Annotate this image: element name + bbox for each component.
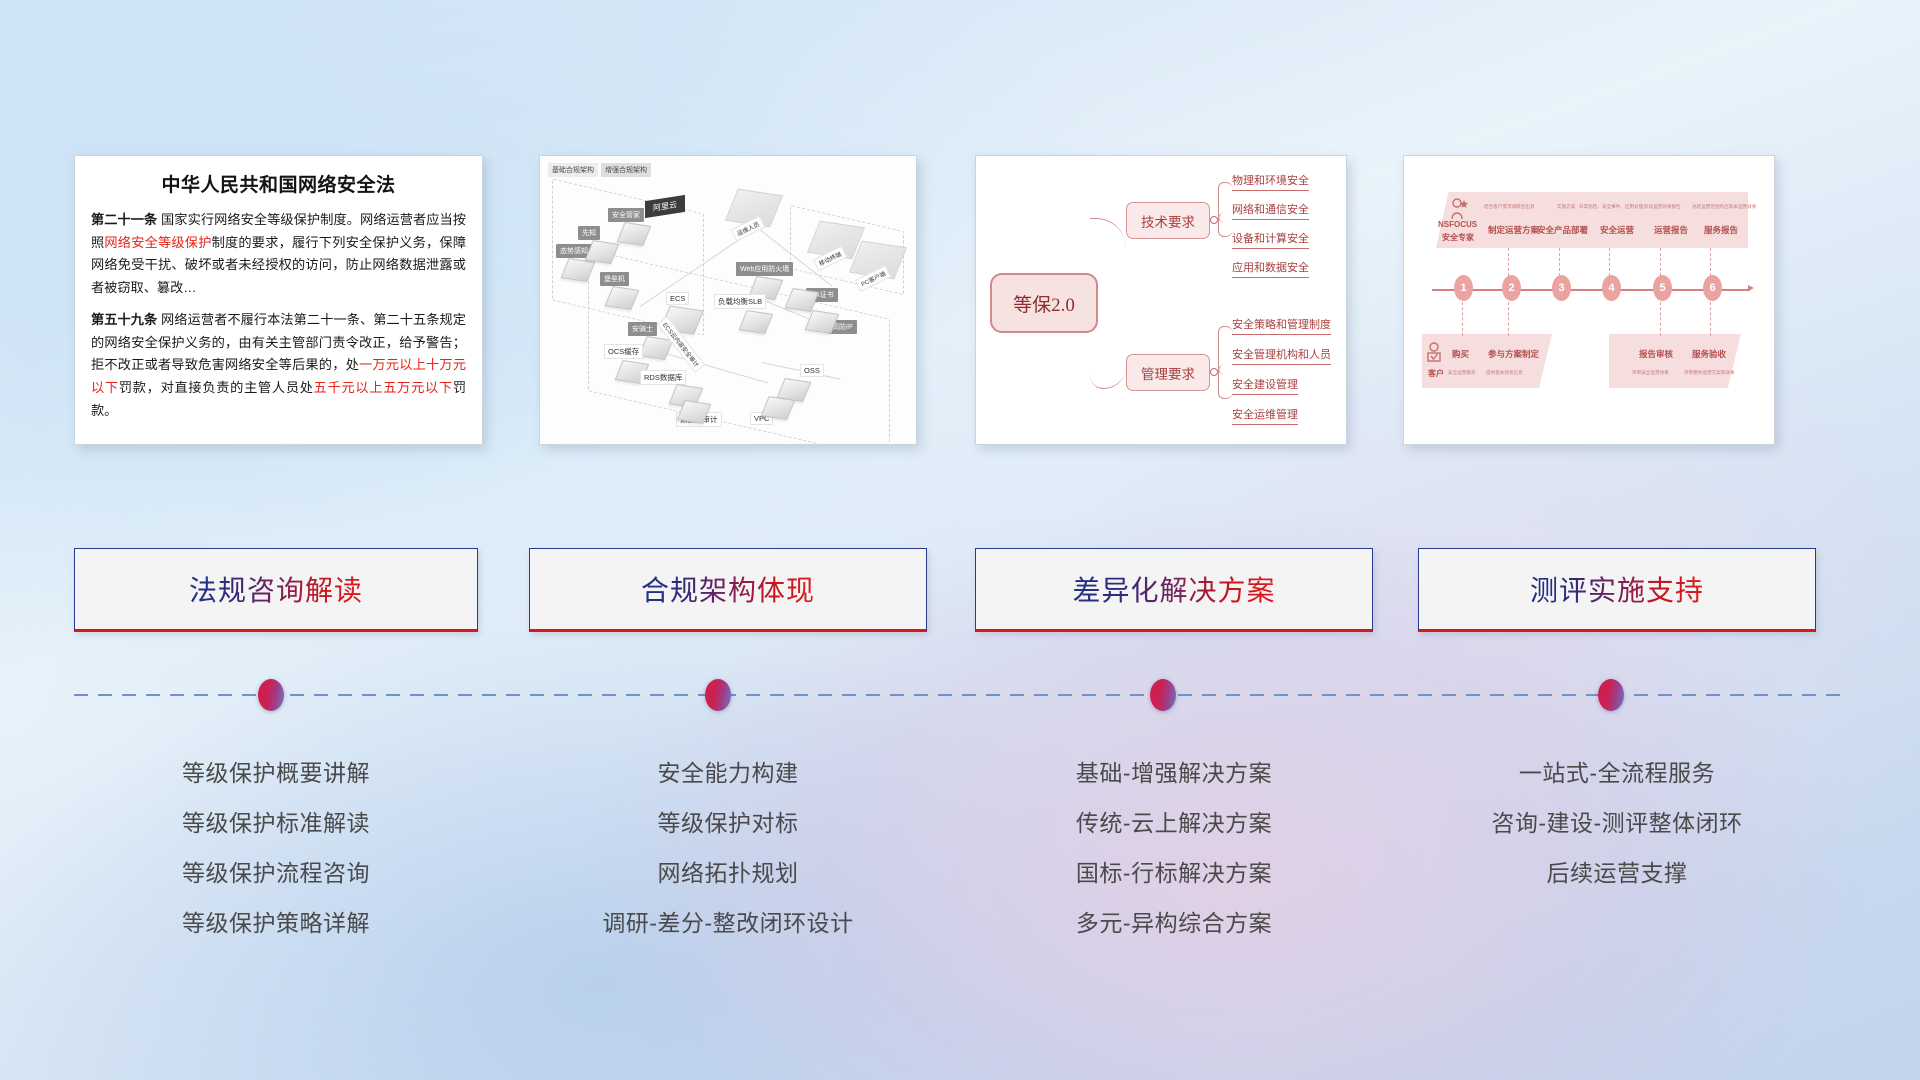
step-connector [1462, 302, 1463, 336]
timeline-arrow-icon [1748, 285, 1754, 291]
step-connector [1710, 248, 1711, 276]
mindmap-leaf: 网络和通信安全 [1232, 201, 1309, 220]
node-label: 安全管家 [608, 208, 644, 222]
step-sub: 日常巡检、安全事件、应用处理 [1579, 204, 1643, 210]
timeline-dot-1 [258, 679, 284, 711]
list-item: 国标-行标解决方案 [975, 848, 1373, 898]
architecture-diagram: 基础合规架构 增强合规架构 阿里云 态势感知 先知 [540, 156, 916, 444]
law-title: 中华人民共和国网络安全法 [91, 170, 466, 197]
heading-box-4[interactable]: 测评实施支持 [1418, 548, 1816, 632]
node-label: Web应用防火墙 [736, 262, 793, 276]
server-cube-icon [605, 286, 639, 310]
law-paragraph-59: 第五十九条 网络运营者不履行本法第二十一条、第二十五条规定的网络安全保护义务的，… [91, 309, 466, 423]
mindmap-connector [1090, 218, 1126, 279]
step-label: 运营报告 [1654, 224, 1688, 236]
card-cybersecurity-law: 中华人民共和国网络安全法 第二十一条 国家实行网络安全等级保护制度。网络运营者应… [74, 155, 483, 445]
step-connector [1660, 248, 1661, 276]
customer-step-label: 报告审核 [1639, 348, 1673, 360]
step-number: 1 [1460, 282, 1466, 294]
nsfocus-timeline-diagram: NSFOCUS 安全专家 结合客户需求调研后出具 制定运营方案 实施方案 安全产… [1404, 156, 1774, 444]
timeline-dot-3 [1150, 679, 1176, 711]
node-label: RDS数据库 [640, 370, 686, 385]
timeline-dot-2 [705, 679, 731, 711]
node-ops-personnel: 运维人员 [730, 192, 778, 224]
mindmap-leaf: 安全管理机构和人员 [1232, 346, 1331, 365]
law-run-highlight: 网络安全等级保护 [104, 235, 211, 250]
step-label: 服务报告 [1704, 224, 1738, 236]
node-pc-client: PC客户端 [854, 244, 902, 276]
customer-label: 客户 [1428, 368, 1444, 379]
customer-step-label: 购买 [1452, 348, 1469, 360]
mindmap-node-dot [1210, 216, 1218, 224]
node-slb: 负载均衡SLB [714, 298, 770, 332]
node-label: 负载均衡SLB [714, 294, 766, 309]
architecture-tabs: 基础合规架构 增强合规架构 [548, 163, 651, 177]
mindmap-leaf: 安全建设管理 [1232, 376, 1298, 395]
list-item: 调研-差分-整改闭环设计 [529, 898, 927, 948]
step-connector [1508, 248, 1509, 276]
list-item: 安全能力构建 [529, 748, 927, 798]
expert-label-line2: 安全专家 [1442, 232, 1474, 243]
mindmap-branch-label: 技术要求 [1141, 211, 1195, 231]
expert-label-line1: NSFOCUS [1438, 220, 1477, 229]
timeline-step-node: 4 [1602, 275, 1621, 301]
law-paragraph-21: 第二十一条 国家实行网络安全等级保护制度。网络运营者应当按照网络安全等级保护制度… [91, 209, 466, 300]
customer-step-label: 服务验收 [1692, 348, 1726, 360]
step-label: 安全产品部署 [1537, 224, 1588, 236]
list-item: 后续运营支撑 [1418, 848, 1816, 898]
mindmap-leaf: 安全策略和管理制度 [1232, 316, 1331, 335]
step-connector [1660, 302, 1661, 336]
card-compliance-architecture: 基础合规架构 增强合规架构 阿里云 态势感知 先知 [539, 155, 917, 445]
expert-avatar-icon [1449, 198, 1469, 220]
list-item: 网络拓扑规划 [529, 848, 927, 898]
list-item: 等级保护流程咨询 [74, 848, 478, 898]
mindmap-connector [1218, 364, 1233, 399]
slide-canvas: 中华人民共和国网络安全法 第二十一条 国家实行网络安全等级保护制度。网络运营者应… [0, 0, 1920, 1080]
list-item: 等级保护策略详解 [74, 898, 478, 948]
heading-box-1[interactable]: 法规咨询解读 [74, 548, 478, 632]
step-number: 5 [1659, 282, 1665, 294]
node-label: 堡垒机 [600, 272, 629, 286]
mindmap-leaf: 安全运维管理 [1232, 406, 1298, 425]
step-sub: 实施方案 [1557, 204, 1575, 210]
node-vpc: VPC [746, 398, 792, 418]
node-security-butler: 安全管家 [608, 210, 648, 244]
heading-box-3[interactable]: 差异化解决方案 [975, 548, 1373, 632]
timeline-step-node: 2 [1502, 275, 1521, 301]
list-item: 多元-异构综合方案 [975, 898, 1373, 948]
step-sub: 总结运营范围内出现本运营效果 [1692, 204, 1756, 210]
mindmap-diagram: 等保2.0 技术要求 物理和环境安全 网络和通信安全 设备和计算安全 应用和数据… [976, 156, 1346, 444]
node-label: ECS [666, 292, 689, 305]
mindmap-connector [1090, 324, 1126, 389]
node-bastion-host: 堡垒机 [600, 274, 636, 308]
node-label: OCS缓存 [604, 344, 643, 359]
timeline-step-node: 3 [1552, 275, 1571, 301]
law-run-highlight: 五千元以上五万元以下 [314, 380, 453, 395]
node-ca-certificate: CA证书 [788, 288, 816, 310]
node-label: 先知 [578, 226, 600, 240]
banner-customer-lane-right [1609, 334, 1741, 388]
tab-basic-architecture[interactable]: 基础合规架构 [548, 163, 598, 177]
node-oss: OSS [778, 368, 808, 400]
server-cube-icon [617, 222, 651, 246]
node-database-audit: 数据库审计 [674, 402, 708, 422]
step-connector [1609, 248, 1610, 276]
timeline-step-node: 6 [1703, 275, 1722, 301]
timeline-step-node: 5 [1653, 275, 1672, 301]
mindmap-branch-management: 管理要求 [1126, 354, 1210, 391]
mindmap-leaf: 物理和环境安全 [1232, 172, 1309, 191]
step-connector [1508, 302, 1509, 336]
list-column-1: 等级保护概要讲解 等级保护标准解读 等级保护流程咨询 等级保护策略详解 [74, 748, 478, 948]
banner-expert-lane [1436, 192, 1748, 248]
node-web-application-firewall: Web应用防火墙 [736, 264, 780, 298]
mindmap-branch-technical: 技术要求 [1126, 202, 1210, 239]
node-label: OSS [800, 364, 824, 377]
step-label: 安全运营 [1600, 224, 1634, 236]
step-label: 制定运营方案 [1488, 224, 1539, 236]
tab-enhanced-architecture[interactable]: 增强合规架构 [601, 163, 651, 177]
list-column-3: 基础-增强解决方案 传统-云上解决方案 国标-行标解决方案 多元-异构综合方案 [975, 748, 1373, 948]
mindmap-leaf: 设备和计算安全 [1232, 230, 1309, 249]
node-mobile-terminal: 移动终端 [812, 224, 860, 256]
mindmap-leaf: 应用和数据安全 [1232, 259, 1309, 278]
list-item: 一站式-全流程服务 [1418, 748, 1816, 798]
list-column-2: 安全能力构建 等级保护对标 网络拓扑规划 调研-差分-整改闭环设计 [529, 748, 927, 948]
step-number: 2 [1508, 282, 1514, 294]
heading-label: 测评实施支持 [1530, 569, 1704, 609]
list-item: 咨询-建设-测评整体闭环 [1418, 798, 1816, 848]
step-number: 6 [1709, 282, 1715, 294]
list-item: 传统-云上解决方案 [975, 798, 1373, 848]
law-run: 罚款，对直接负责的主管人员处 [119, 380, 314, 395]
law-article-number: 第五十九条 [91, 312, 157, 327]
mindmap-node-dot [1210, 368, 1218, 376]
step-number: 4 [1608, 282, 1614, 294]
mindmap-connector [1218, 212, 1233, 237]
customer-step-sub: 安全运营服务 [1448, 370, 1476, 376]
customer-step-label: 参与方案制定 [1488, 348, 1539, 360]
list-item: 等级保护概要讲解 [74, 748, 478, 798]
heading-label: 差异化解决方案 [1072, 569, 1275, 609]
law-article-number: 第二十一条 [91, 212, 157, 227]
timeline-step-node: 1 [1454, 275, 1473, 301]
heading-label: 法规咨询解读 [189, 569, 363, 609]
step-connector [1710, 302, 1711, 336]
server-cube-icon [761, 396, 795, 420]
node-label: 安骑士 [628, 322, 657, 336]
customer-step-sub: 评审安全运营效果 [1632, 370, 1669, 376]
server-cube-icon [739, 310, 773, 334]
heading-box-2[interactable]: 合规架构体现 [529, 548, 927, 632]
mindmap-branch-label: 管理要求 [1141, 363, 1195, 383]
step-sub: 结合客户需求调研后出具 [1484, 204, 1535, 210]
list-item: 等级保护对标 [529, 798, 927, 848]
dashed-timeline [74, 694, 1846, 696]
step-number: 3 [1558, 282, 1564, 294]
customer-step-sub: 评审整体运营方案和效果 [1684, 370, 1735, 376]
card-nsfocus-service-timeline: NSFOCUS 安全专家 结合客户需求调研后出具 制定运营方案 实施方案 安全产… [1403, 155, 1775, 445]
step-sub: 阶段运营效果报告 [1644, 204, 1681, 210]
customer-avatar-icon [1426, 342, 1444, 364]
customer-step-sub: 提供基本现状信息 [1486, 370, 1523, 376]
timeline-dot-4 [1598, 679, 1624, 711]
list-column-4: 一站式-全流程服务 咨询-建设-测评整体闭环 后续运营支撑 [1418, 748, 1816, 898]
list-item: 基础-增强解决方案 [975, 748, 1373, 798]
card-dengbao-mindmap: 等保2.0 技术要求 物理和环境安全 网络和通信安全 设备和计算安全 应用和数据… [975, 155, 1347, 445]
list-item: 等级保护标准解读 [74, 798, 478, 848]
node-anti-ddos-ip: 高防IP [808, 308, 836, 332]
mindmap-root: 等保2.0 [990, 273, 1098, 333]
step-connector [1559, 248, 1560, 276]
heading-label: 合规架构体现 [641, 569, 815, 609]
